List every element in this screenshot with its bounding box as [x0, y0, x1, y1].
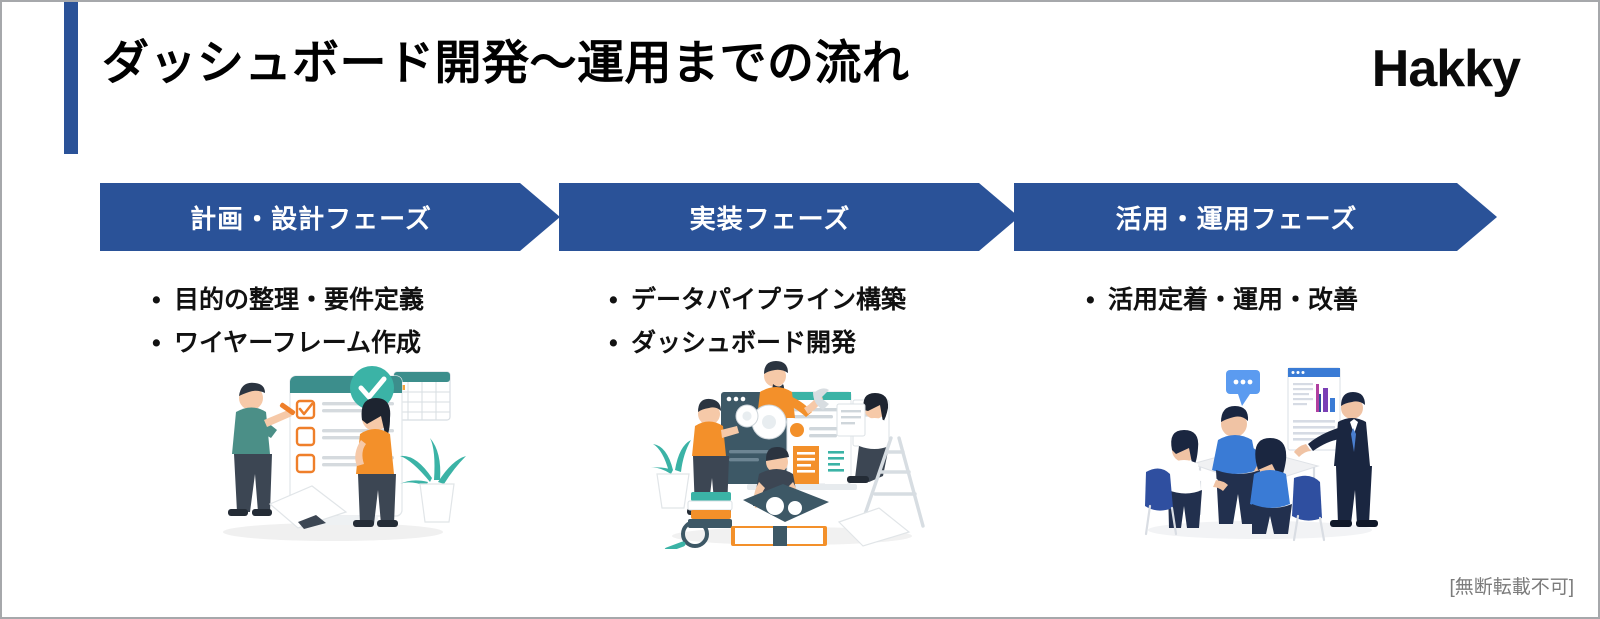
phase-banner-label: 活用・運用フェーズ: [1116, 199, 1358, 236]
phase-column-implementation: 実装フェーズ • データパイプライン構築 • ダッシュボード開発: [559, 183, 1019, 251]
bullet-dot-icon: •: [1086, 279, 1108, 322]
meeting-presentation-illustration: [1130, 354, 1395, 544]
phase-banner-label: 実装フェーズ: [690, 199, 851, 236]
list-item-label: 活用定着・運用・改善: [1108, 279, 1358, 322]
list-item-label: 目的の整理・要件定義: [174, 279, 424, 322]
copyright-note: [無断転載不可]: [1449, 572, 1574, 599]
phase-banner-operation: 活用・運用フェーズ: [1014, 183, 1497, 251]
phase-banner-implementation: 実装フェーズ: [559, 183, 1019, 251]
phase-bullet-list-implementation: • データパイプライン構築 • ダッシュボード開発: [609, 279, 906, 365]
bullet-dot-icon: •: [152, 322, 174, 365]
development-team-illustration: [647, 354, 937, 549]
list-item: • 目的の整理・要件定義: [152, 279, 424, 322]
list-item: • データパイプライン構築: [609, 279, 906, 322]
title-accent-bar: [64, 2, 78, 154]
list-item-label: データパイプライン構築: [631, 279, 906, 322]
list-item: • 活用定着・運用・改善: [1086, 279, 1358, 322]
phase-column-planning: 計画・設計フェーズ • 目的の整理・要件定義 • ワイヤーフレーム作成: [100, 183, 560, 251]
phase-bullet-list-operation: • 活用定着・運用・改善: [1086, 279, 1358, 322]
bullet-dot-icon: •: [609, 322, 631, 365]
page-title: ダッシュボード開発〜運用までの流れ: [102, 35, 910, 91]
phase-bullet-list-planning: • 目的の整理・要件定義 • ワイヤーフレーム作成: [152, 279, 424, 365]
bullet-dot-icon: •: [609, 279, 631, 322]
brand-logo: Hakky: [1372, 39, 1520, 99]
slide-canvas: ダッシュボード開発〜運用までの流れ Hakky 計画・設計フェーズ • 目的の整…: [0, 0, 1600, 619]
phase-banner-planning: 計画・設計フェーズ: [100, 183, 560, 251]
phase-banner-label: 計画・設計フェーズ: [190, 199, 432, 236]
planning-checklist-illustration: [198, 354, 468, 549]
bullet-dot-icon: •: [152, 279, 174, 322]
phase-column-operation: 活用・運用フェーズ • 活用定着・運用・改善: [1014, 183, 1497, 251]
